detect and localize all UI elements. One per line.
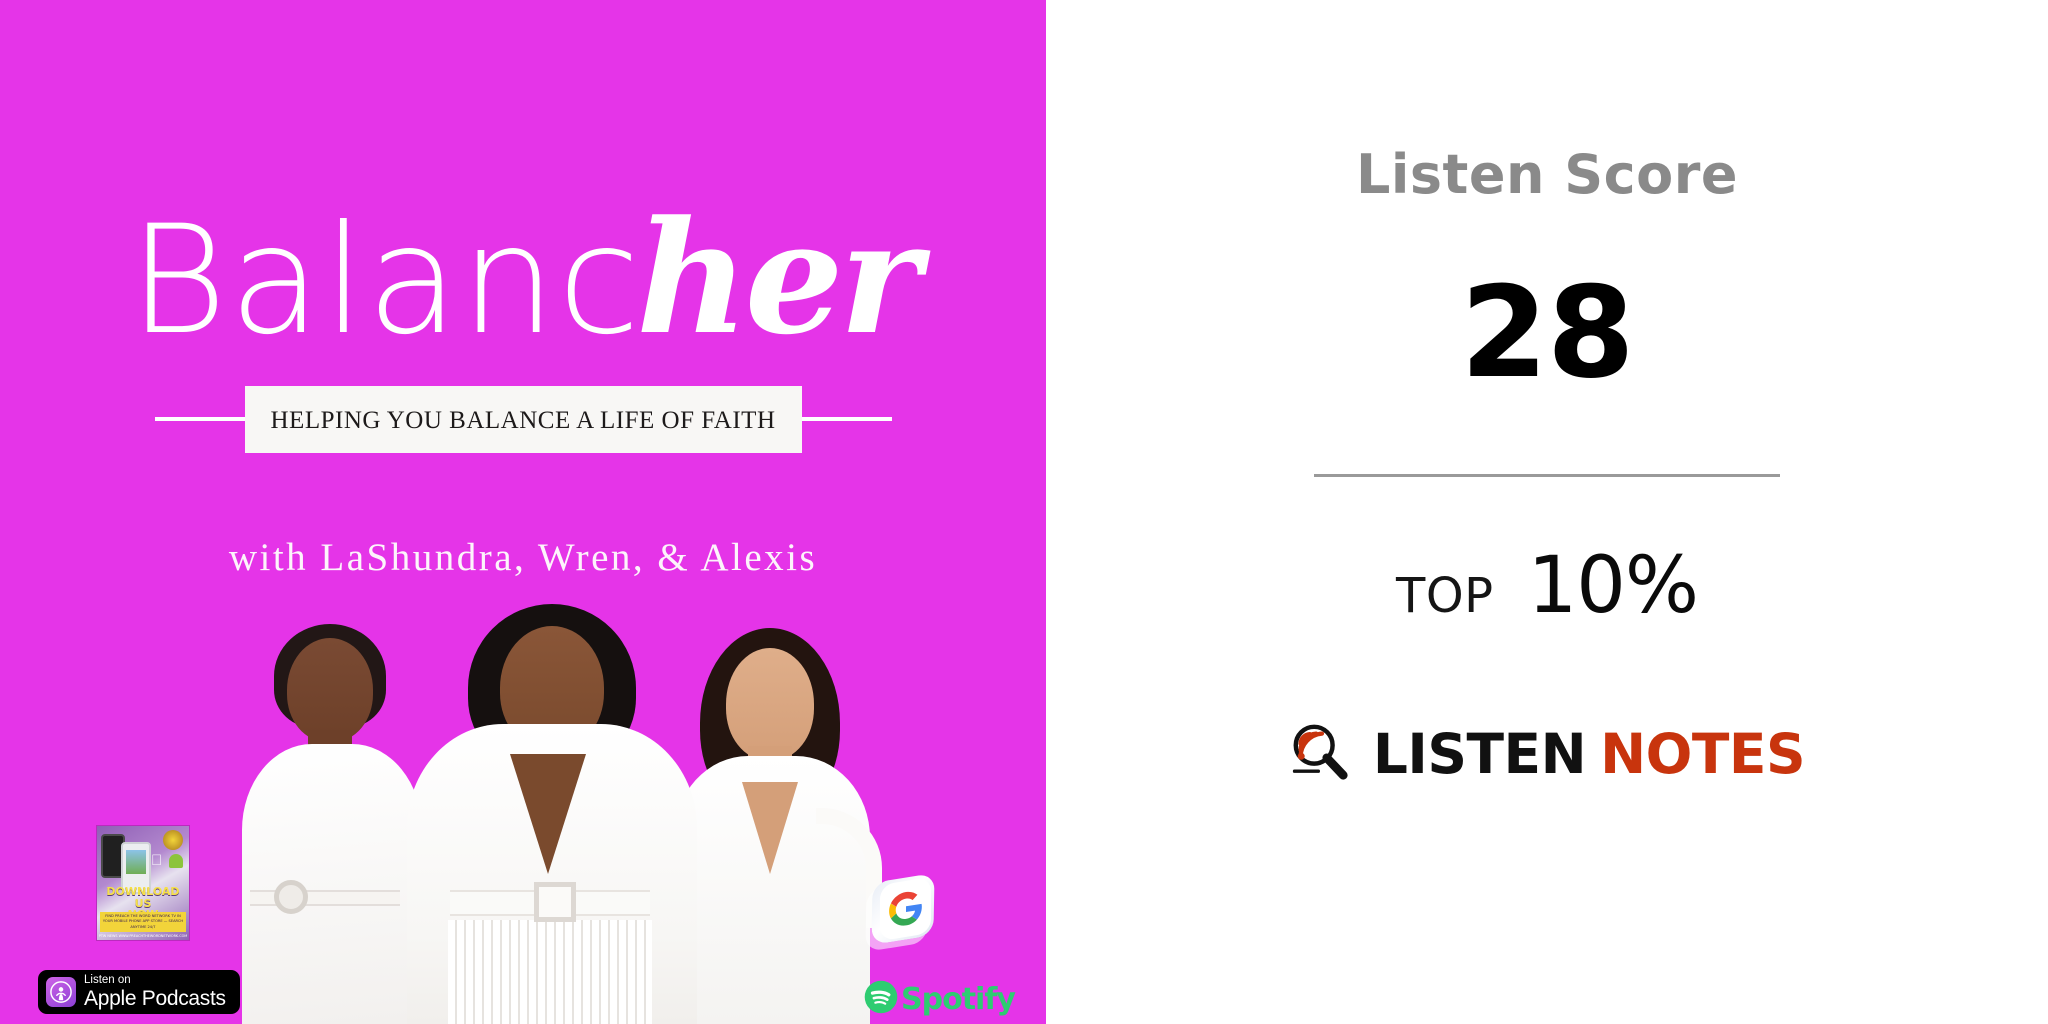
tagline-box: HELPING YOU BALANCE A LIFE OF FAITH — [245, 386, 802, 453]
apple-podcasts-label: Listen on Apple Podcasts — [84, 975, 226, 1010]
award-seal-icon — [163, 830, 183, 850]
promo-poster[interactable]:  DOWNLOAD US NOW FIND PREACH THE WORD N… — [97, 826, 189, 940]
panel-divider — [1314, 474, 1780, 477]
listen-notes-wordmark: LISTENNOTES — [1373, 727, 1805, 782]
google-podcasts-badge[interactable] — [872, 878, 934, 940]
pleated-skirt — [448, 920, 652, 1024]
listen-score-panel: Listen Score 28 TOP 10% — [1046, 0, 2048, 1024]
apple-badge-small-text: Listen on — [84, 975, 226, 987]
percentile-value: 10% — [1528, 547, 1698, 625]
promo-subtext: FIND PREACH THE WORD NETWORK TV IN YOUR … — [100, 912, 186, 932]
listen-notes-logo[interactable]: LISTENNOTES — [1289, 721, 1805, 788]
face — [726, 648, 814, 760]
lapel-v-neck — [510, 754, 586, 874]
apple-podcasts-badge[interactable]: Listen on Apple Podcasts — [38, 970, 240, 1014]
listen-notes-word-primary: LISTEN — [1373, 722, 1586, 786]
podcast-cover-art[interactable]: Balancher HELPING YOU BALANCE A LIFE OF … — [0, 0, 1046, 1024]
podcast-title: Balancher — [0, 200, 1046, 356]
hosts-line: with LaShundra, Wren, & Alexis — [0, 535, 1046, 580]
podcast-title-main: Balanc — [129, 194, 642, 368]
apple-badge-big-text: Apple Podcasts — [84, 988, 226, 1009]
belt — [250, 890, 400, 906]
listen-score-label: Listen Score — [1356, 148, 1738, 202]
tagline-band: HELPING YOU BALANCE A LIFE OF FAITH — [0, 384, 1046, 454]
apple-podcasts-icon — [46, 977, 76, 1007]
spotify-badge[interactable]: Spotify — [864, 980, 1015, 1019]
percentile-prefix: TOP — [1396, 572, 1494, 620]
android-logo-icon — [169, 854, 183, 868]
belt-buckle — [274, 880, 308, 914]
tagline-rule-left — [155, 417, 247, 421]
belt-buckle — [534, 882, 576, 922]
promo-headline-line1: DOWNLOAD US — [106, 885, 179, 910]
listen-score-card: Balancher HELPING YOU BALANCE A LIFE OF … — [0, 0, 2048, 1024]
listen-notes-word-accent: NOTES — [1600, 722, 1805, 786]
podcast-title-script: her — [636, 186, 917, 369]
face — [287, 638, 373, 742]
promo-footer: PTW NEWS WWW.PREACHTHEWORDNETWORK.COM — [97, 934, 189, 938]
percentile-row: TOP 10% — [1396, 547, 1698, 625]
apple-logo-icon:  — [151, 854, 163, 868]
google-podcasts-icon — [880, 877, 931, 941]
outfit — [242, 744, 422, 1024]
host-photo-center — [402, 604, 702, 1024]
tagline-text: HELPING YOU BALANCE A LIFE OF FAITH — [271, 408, 776, 433]
host-photo-left — [232, 620, 428, 1024]
spotify-label: Spotify — [901, 985, 1015, 1015]
listen-score-value: 28 — [1460, 270, 1633, 396]
hosts-photo — [232, 604, 872, 1024]
spotify-icon — [864, 980, 898, 1019]
listen-notes-magnifier-rss-icon — [1289, 721, 1351, 788]
tagline-rule-right — [800, 417, 892, 421]
lapel-v-neck — [742, 782, 798, 874]
